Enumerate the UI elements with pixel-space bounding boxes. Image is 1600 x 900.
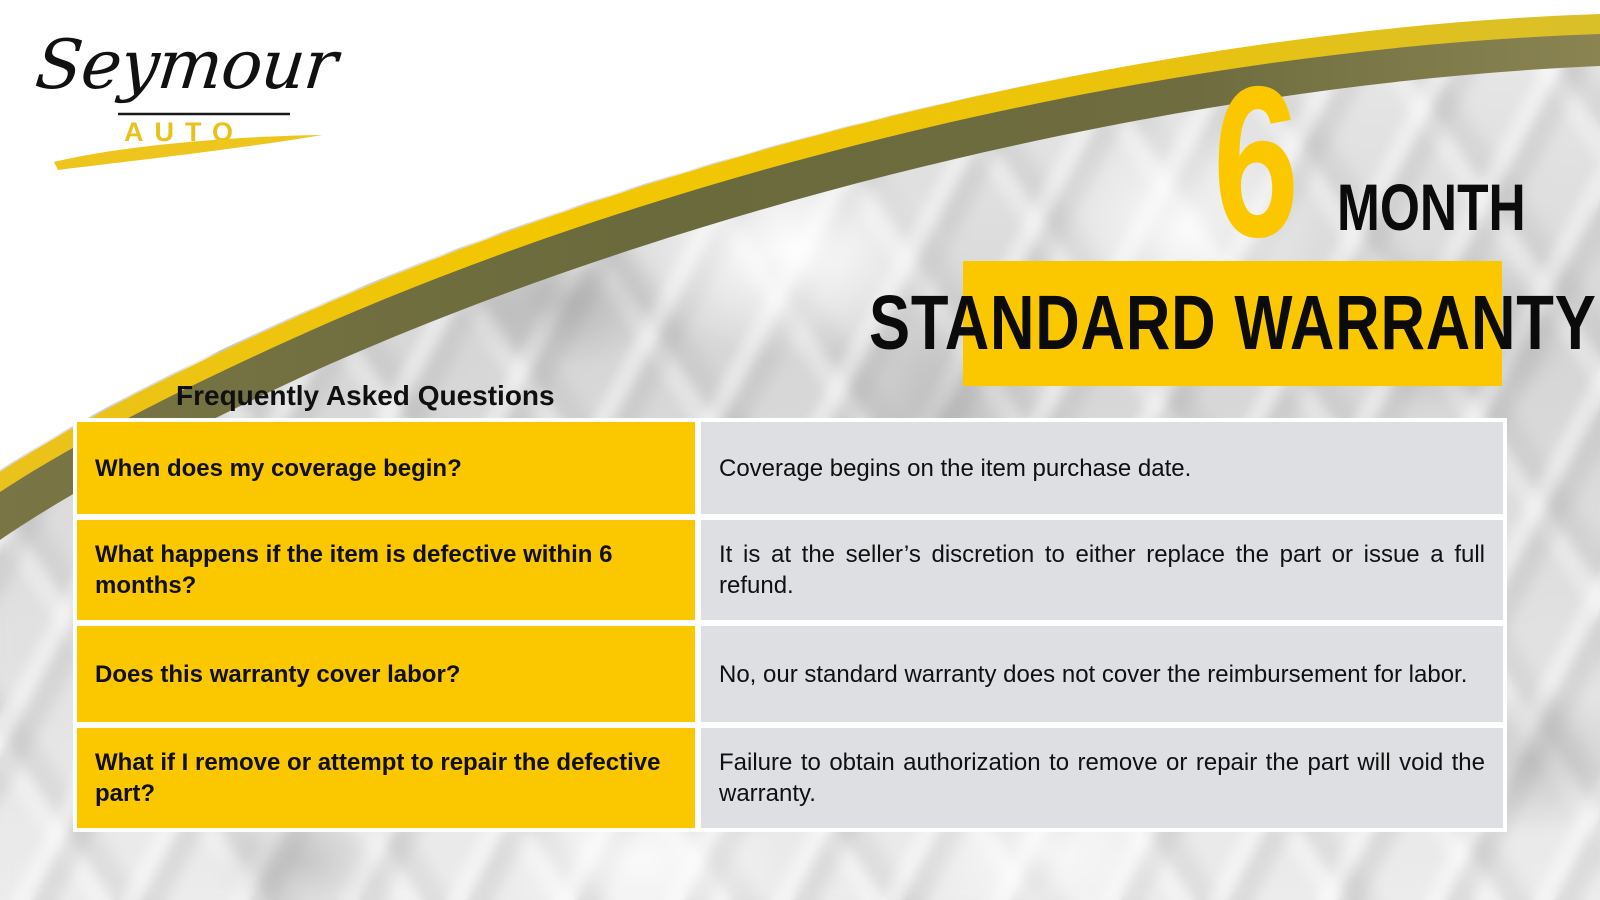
faq-answer-cell: Failure to obtain authorization to remov… <box>701 728 1503 828</box>
faq-question-text: What happens if the item is defective wi… <box>95 539 677 601</box>
table-row: Does this warranty cover labor? No, our … <box>77 626 1503 722</box>
faq-question-cell: When does my coverage begin? <box>77 422 695 514</box>
warranty-banner: STANDARD WARRANTY <box>963 261 1502 386</box>
faq-question-cell: What happens if the item is defective wi… <box>77 520 695 620</box>
faq-table: When does my coverage begin? Coverage be… <box>73 418 1507 832</box>
duration-number: 6 <box>1213 54 1296 269</box>
faq-answer-text: Failure to obtain authorization to remov… <box>719 747 1485 809</box>
logo-swoosh-icon <box>32 22 332 172</box>
table-row: What if I remove or attempt to repair th… <box>77 728 1503 828</box>
faq-question-text: When does my coverage begin? <box>95 453 462 484</box>
table-row: When does my coverage begin? Coverage be… <box>77 422 1503 514</box>
faq-answer-text: Coverage begins on the item purchase dat… <box>719 453 1485 484</box>
faq-answer-cell: Coverage begins on the item purchase dat… <box>701 422 1503 514</box>
faq-answer-text: It is at the seller’s discretion to eith… <box>719 539 1485 601</box>
duration-unit: MONTH <box>1337 174 1526 240</box>
faq-question-text: What if I remove or attempt to repair th… <box>95 747 677 809</box>
warranty-slide: Seymour AUTO 6 MONTH STANDARD WARRANTY F… <box>0 0 1600 900</box>
faq-question-text: Does this warranty cover labor? <box>95 659 460 690</box>
faq-question-cell: What if I remove or attempt to repair th… <box>77 728 695 828</box>
faq-answer-text: No, our standard warranty does not cover… <box>719 659 1485 690</box>
faq-answer-cell: It is at the seller’s discretion to eith… <box>701 520 1503 620</box>
warranty-banner-title: STANDARD WARRANTY <box>869 285 1597 362</box>
faq-heading: Frequently Asked Questions <box>176 380 555 412</box>
faq-question-cell: Does this warranty cover labor? <box>77 626 695 722</box>
table-row: What happens if the item is defective wi… <box>77 520 1503 620</box>
faq-answer-cell: No, our standard warranty does not cover… <box>701 626 1503 722</box>
brand-logo: Seymour AUTO <box>32 22 332 172</box>
duration-block: 6 MONTH <box>1205 78 1535 253</box>
